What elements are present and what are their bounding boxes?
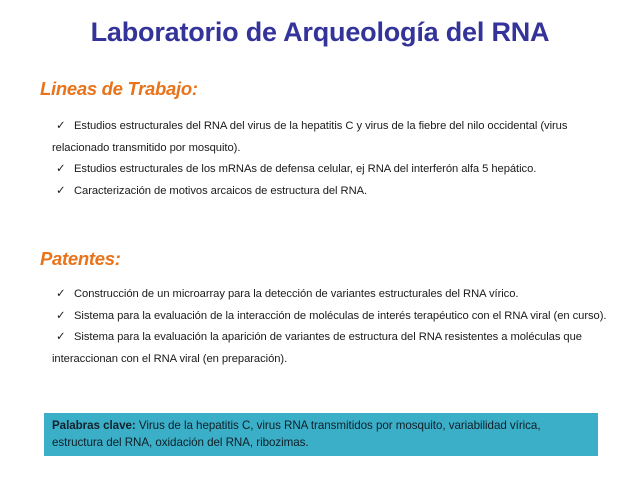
checkmark-icon: ✓ — [56, 159, 66, 181]
keywords-callout-box: Palabras clave: Virus de la hepatitis C,… — [44, 413, 598, 456]
keywords-label: Palabras clave: — [52, 419, 136, 432]
list-item: ✓ Sistema para la evaluación la aparició… — [52, 327, 612, 370]
checkmark-icon: ✓ — [56, 284, 66, 306]
page-title: Laboratorio de Arqueología del RNA — [0, 17, 640, 48]
keywords-text: Palabras clave: Virus de la hepatitis C,… — [52, 417, 590, 451]
list-item: ✓ Estudios estructurales del RNA del vir… — [52, 116, 612, 159]
checkmark-icon: ✓ — [56, 181, 66, 203]
bullet-list-lineas-de-trabajo: ✓ Estudios estructurales del RNA del vir… — [52, 116, 612, 202]
list-item-text: Sistema para la evaluación la aparición … — [52, 327, 612, 370]
bullet-list-patentes: ✓ Construcción de un microarray para la … — [52, 284, 612, 370]
slide-canvas: Laboratorio de Arqueología del RNA Linea… — [0, 0, 640, 480]
list-item-text: Sistema para la evaluación de la interac… — [52, 306, 612, 328]
list-item: ✓ Caracterización de motivos arcaicos de… — [52, 181, 612, 203]
checkmark-icon: ✓ — [56, 116, 66, 138]
list-item: ✓ Sistema para la evaluación de la inter… — [52, 306, 612, 328]
list-item-text: Estudios estructurales de los mRNAs de d… — [52, 159, 612, 181]
section-heading-lineas-de-trabajo: Lineas de Trabajo: — [40, 78, 198, 100]
checkmark-icon: ✓ — [56, 306, 66, 328]
section-heading-patentes: Patentes: — [40, 248, 121, 270]
list-item-text: Caracterización de motivos arcaicos de e… — [52, 181, 612, 203]
list-item: ✓ Estudios estructurales de los mRNAs de… — [52, 159, 612, 181]
checkmark-icon: ✓ — [56, 327, 66, 349]
list-item-text: Construcción de un microarray para la de… — [52, 284, 612, 306]
list-item: ✓ Construcción de un microarray para la … — [52, 284, 612, 306]
list-item-text: Estudios estructurales del RNA del virus… — [52, 116, 612, 159]
